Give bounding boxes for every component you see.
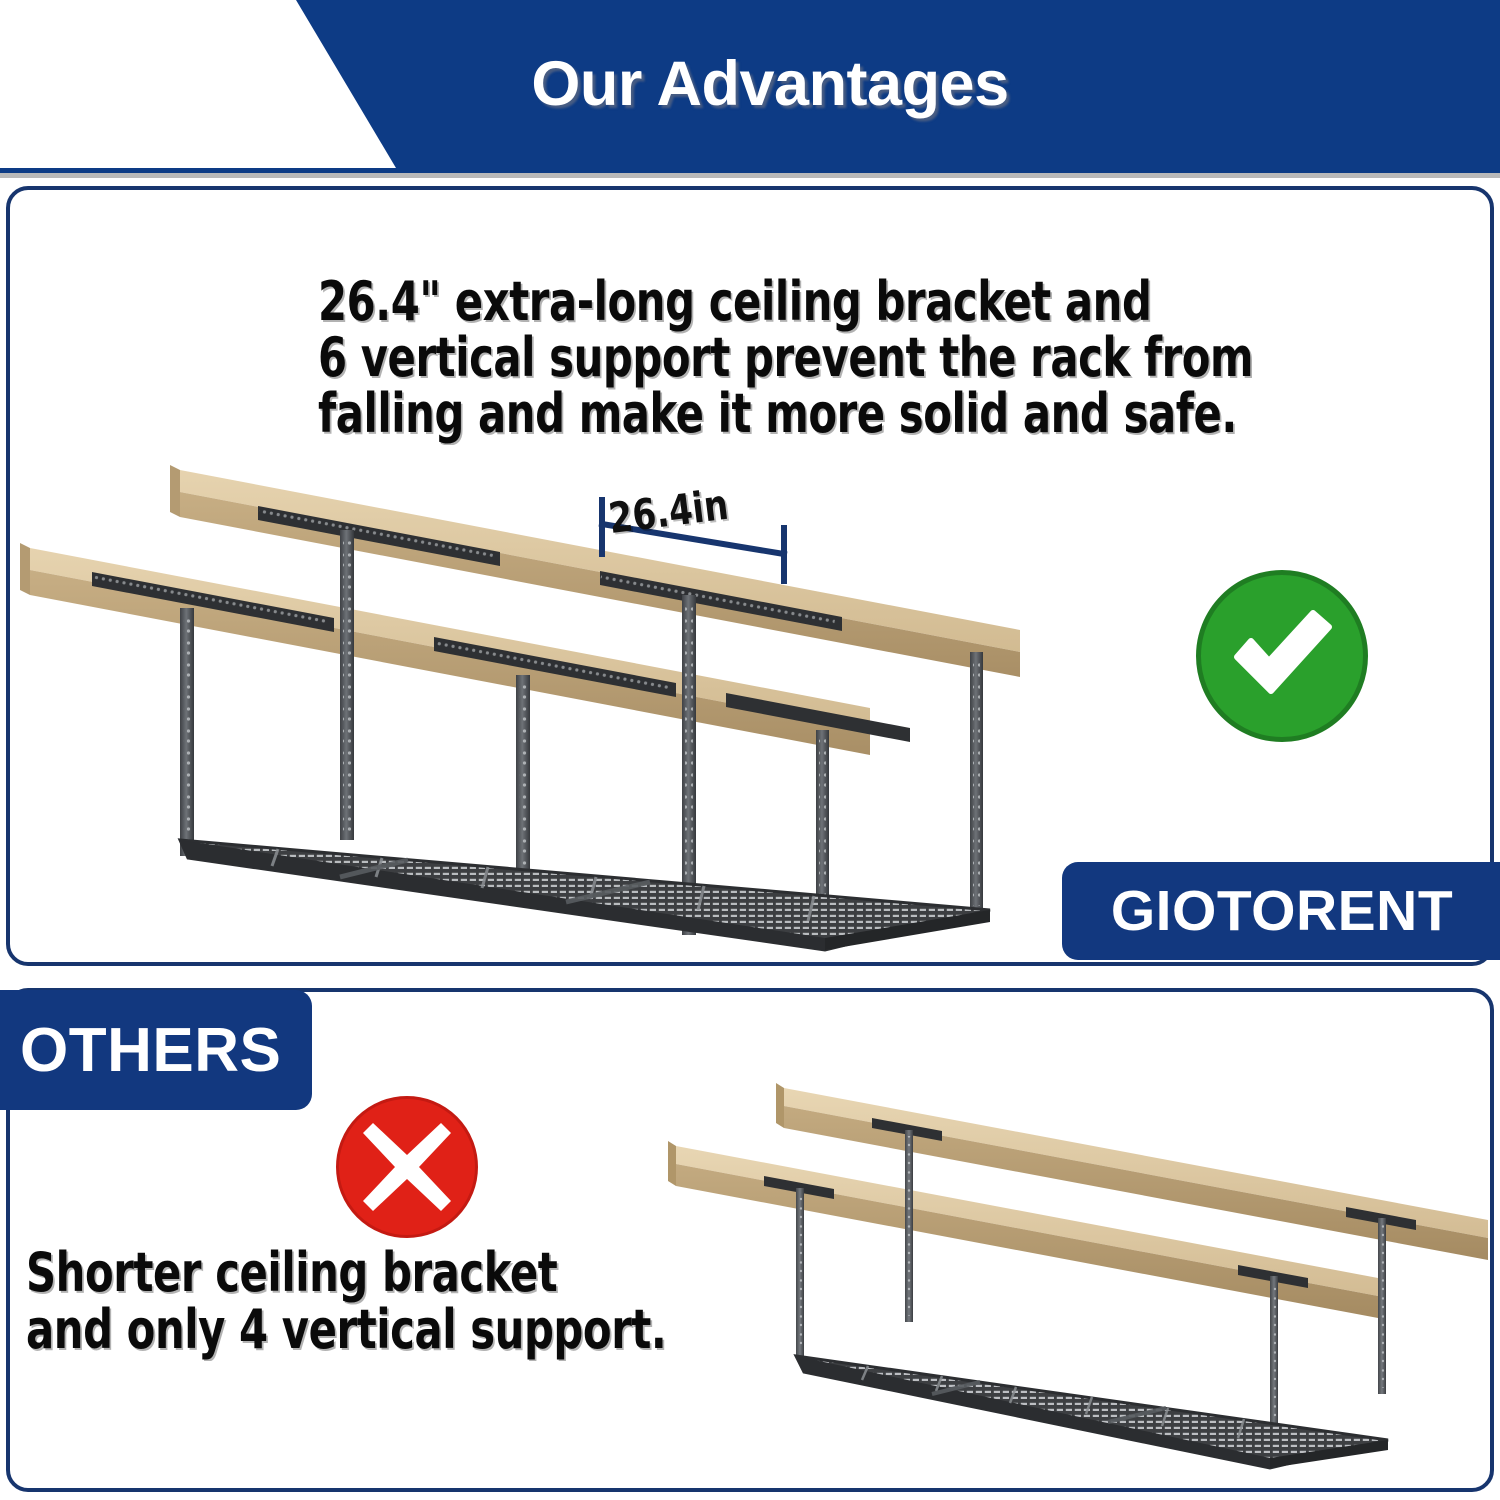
header-banner: Our Advantages <box>0 0 1500 168</box>
header-divider-gray <box>0 173 1500 178</box>
others-headline-line-2: and only 4 vertical support. <box>26 1301 740 1358</box>
vertical-support-front-1 <box>180 608 194 856</box>
others-headline: Shorter ceiling bracket and only 4 verti… <box>26 1244 740 1358</box>
brand-name: GIOTORENT <box>1111 878 1453 944</box>
advantage-headline-line-3: falling and make it more solid and safe. <box>318 386 1316 442</box>
x-icon <box>336 1096 478 1238</box>
vertical-support-front-2 <box>516 675 530 887</box>
infographic-page: Our Advantages 26.4" extra-long ceiling … <box>0 0 1500 1500</box>
page-title: Our Advantages <box>0 0 1500 168</box>
advantage-headline: 26.4" extra-long ceiling bracket and 6 v… <box>318 274 1316 442</box>
competitor-wire-mesh-shelf-deck <box>796 1356 1388 1468</box>
competitor-support-4 <box>1270 1276 1278 1428</box>
competitor-support-3 <box>796 1188 804 1356</box>
others-headline-line-1: Shorter ceiling bracket <box>26 1244 740 1301</box>
advantage-headline-line-1: 26.4" extra-long ceiling bracket and <box>318 274 1316 330</box>
competitor-rack-illustration <box>660 1060 1500 1492</box>
others-badge-label: OTHERS <box>20 1015 281 1086</box>
brand-badge: GIOTORENT <box>1062 862 1500 960</box>
wire-mesh-shelf-deck <box>180 840 990 950</box>
check-icon <box>1196 570 1368 742</box>
competitor-support-1 <box>905 1130 913 1322</box>
others-badge: OTHERS <box>0 990 312 1110</box>
advantage-headline-line-2: 6 vertical support prevent the rack from <box>318 330 1316 386</box>
vertical-support-back-3 <box>970 652 983 912</box>
vertical-support-back-1 <box>340 530 354 840</box>
competitor-support-2 <box>1378 1218 1386 1394</box>
vertical-support-front-3 <box>816 730 829 922</box>
page-title-text: Our Advantages <box>531 48 1008 120</box>
giotorent-rack-illustration <box>10 440 1070 970</box>
